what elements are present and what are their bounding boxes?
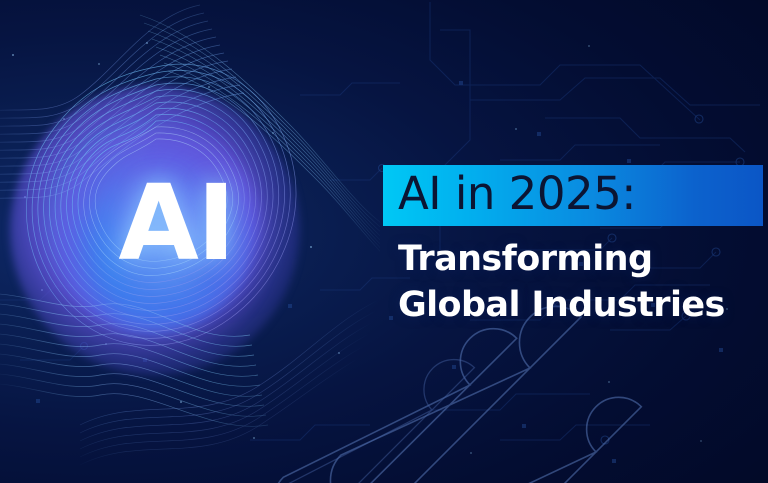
subheadline-line-1: Transforming	[398, 239, 652, 279]
ai-orb-graphic: AI	[0, 0, 380, 483]
orb-violet-glow	[110, 125, 260, 335]
ai-orb-label: AI	[0, 171, 380, 275]
subheadline-line-2: Global Industries	[398, 282, 758, 328]
orb-core-glow	[52, 127, 258, 333]
poster-canvas: AI AI in 2025: Transforming Global Indus…	[0, 0, 768, 483]
subheadline: Transforming Global Industries	[398, 236, 758, 328]
headline-band: AI in 2025:	[383, 165, 763, 226]
headline-band-text: AI in 2025:	[383, 171, 636, 216]
orb-outer-glow	[10, 85, 300, 375]
orb-wave-mesh	[0, 0, 380, 483]
